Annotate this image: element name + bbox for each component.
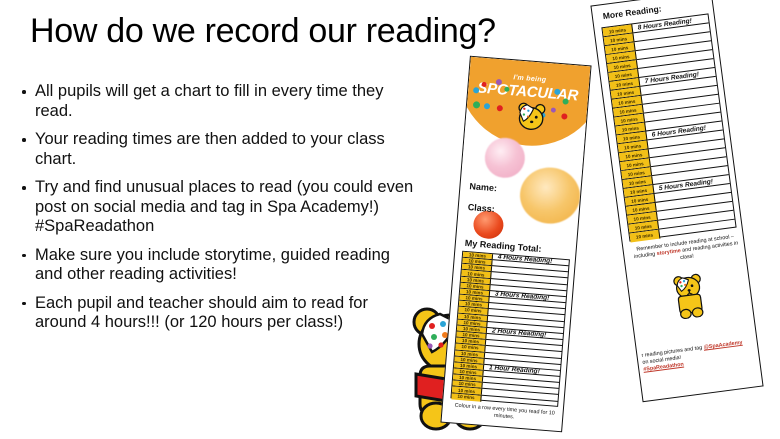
- reading-bookmark-back[interactable]: More Reading: 10 mins8 Hours Reading!10 …: [590, 0, 763, 402]
- minute-cell[interactable]: 10 mins: [451, 393, 481, 402]
- bullet-list: All pupils will get a chart to fill in e…: [18, 82, 418, 342]
- reading-chart-left[interactable]: 10 mins4 Hours Reading!10 mins10 mins10 …: [450, 251, 570, 407]
- name-field-label: Name:: [469, 181, 497, 193]
- list-item: Each pupil and teacher should aim to rea…: [18, 294, 418, 333]
- list-item: Make sure you include storytime, guided …: [18, 246, 418, 285]
- more-reading-label: More Reading:: [602, 3, 662, 21]
- red-blob: [472, 210, 504, 240]
- list-item: All pupils will get a chart to fill in e…: [18, 82, 418, 121]
- bookmark-header-art: I'm being SPOTACULAR: [462, 57, 591, 178]
- list-item: Try and find unusual places to read (you…: [18, 178, 418, 237]
- bookmark-social-note: r reading pictures and tag @SpaAcademy o…: [641, 339, 749, 374]
- social-handle: @SpaAcademy: [703, 340, 743, 351]
- pudsey-bear-icon: [513, 100, 549, 133]
- list-item: Your reading times are then added to you…: [18, 130, 418, 169]
- reading-bookmark-front[interactable]: I'm being SPOTACULAR: [440, 56, 591, 433]
- page-title: How do we record our reading?: [30, 12, 496, 51]
- class-field-label: Class:: [467, 202, 495, 214]
- slide-canvas: How do we record our reading? All pupils…: [0, 0, 780, 439]
- pudsey-bear-icon: [663, 269, 715, 321]
- reading-chart-right[interactable]: 10 mins8 Hours Reading!10 mins10 mins10 …: [601, 13, 736, 241]
